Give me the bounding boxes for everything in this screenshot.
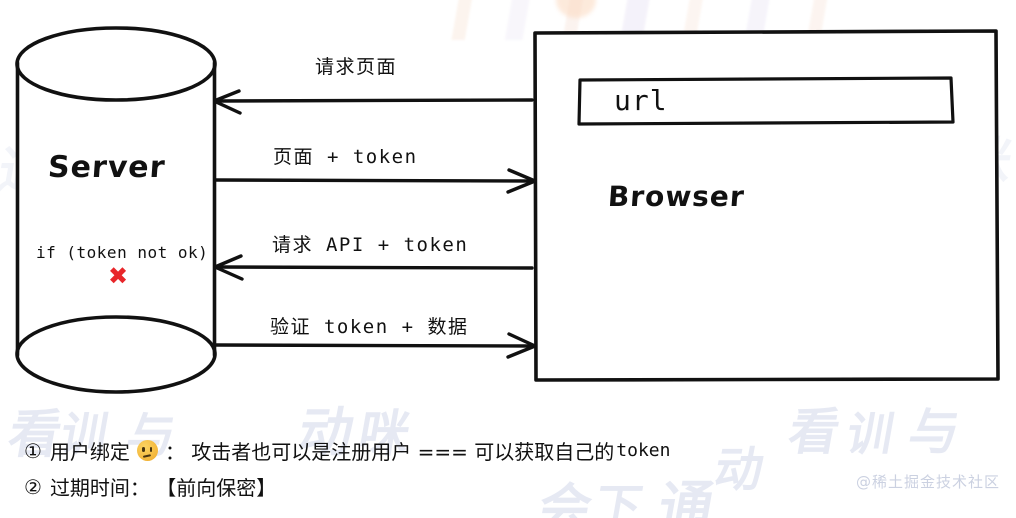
diagram-canvas: 看 训 与 动 咪 会 下 通 动 看 训 与 会 通 咪 [0,0,1016,518]
note-text-after: ： 攻击者也可以是注册用户 === 可以获取自己的 [165,436,614,465]
confused-face-icon [137,440,158,461]
arrow-label-request-page: 请求页面 [315,52,397,79]
note-text-before: 过期时间： 【前向保密】 [50,472,276,501]
note-item: ② 过期时间： 【前向保密】 [24,472,276,501]
server-title: Server [47,150,167,185]
note-trailing-code: token [616,440,670,461]
arrow-label-request-api-token: 请求 API + token [272,230,468,257]
arrow-label-page-token: 页面 + token [273,142,418,169]
url-input-value[interactable]: url [614,84,668,117]
browser-title: Browser [607,180,746,213]
note-text-before: 用户绑定 [50,436,130,465]
watermark-credit: @稀土掘金技术社区 [856,471,1000,492]
note-number: ② [24,475,42,499]
note-item: ① 用户绑定 ： 攻击者也可以是注册用户 === 可以获取自己的 token [24,436,670,465]
arrow-label-verify-token-data: 验证 token + 数据 [270,312,468,339]
server-condition-text: if (token not ok) [36,243,208,262]
server-fail-cross-icon: ✖ [108,264,128,288]
note-number: ① [24,439,42,463]
